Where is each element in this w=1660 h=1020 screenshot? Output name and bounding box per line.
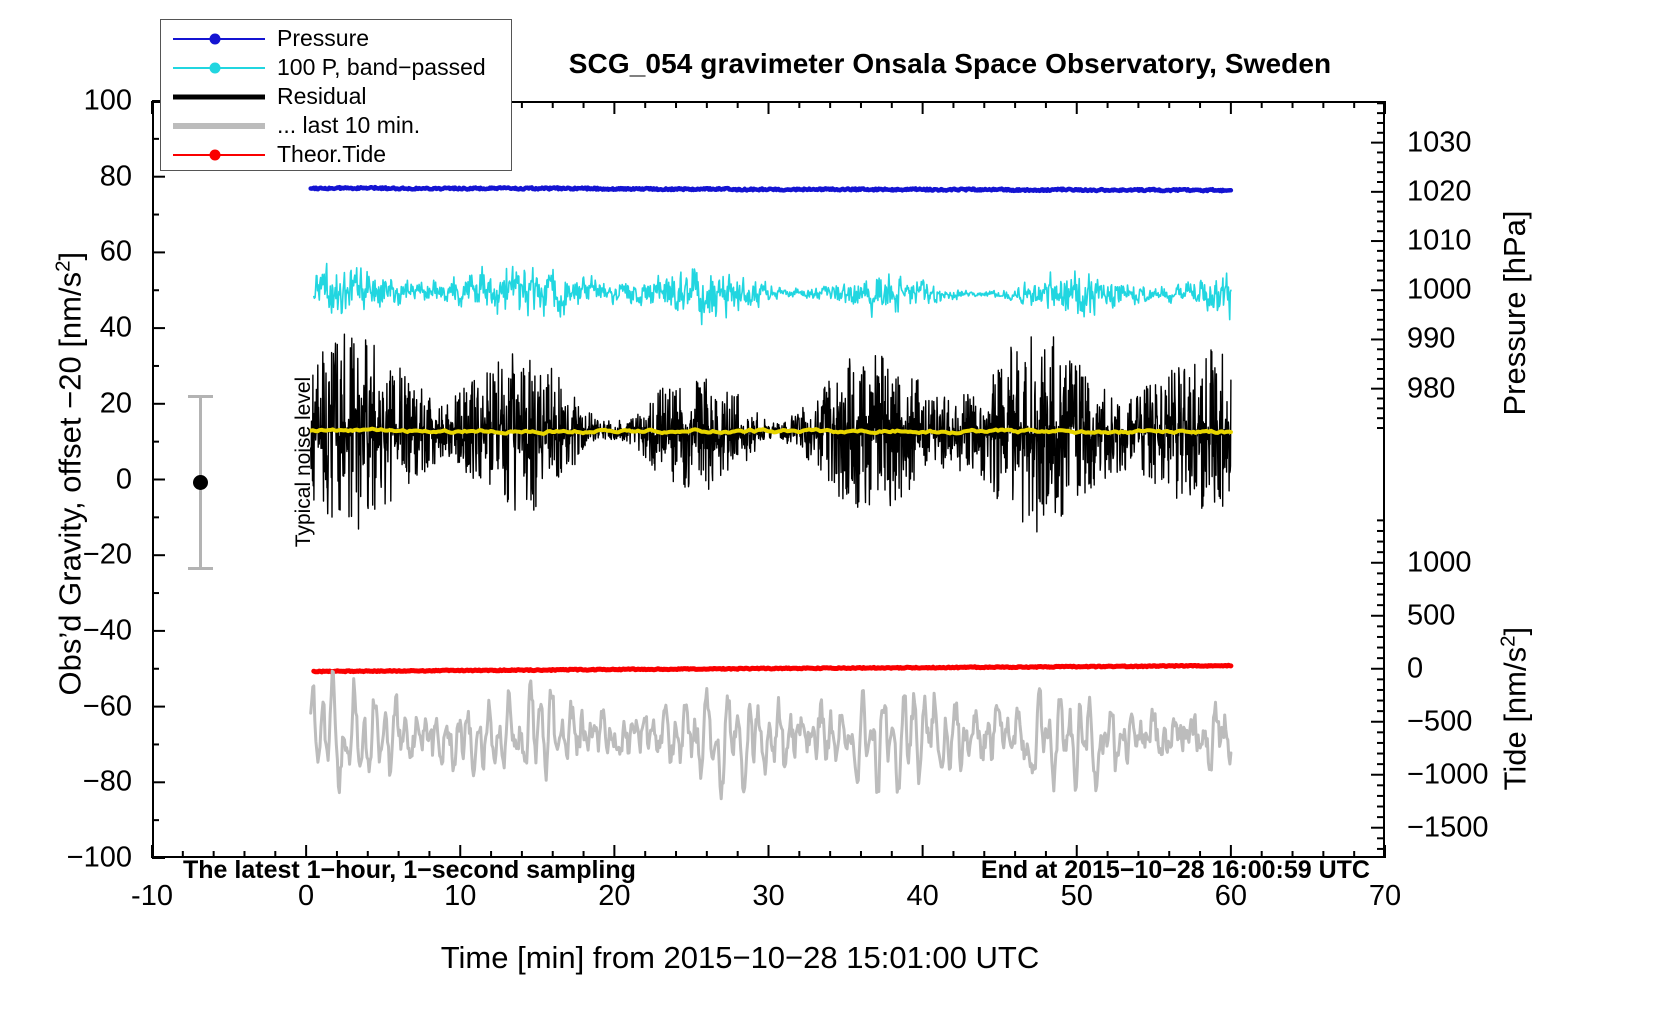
x-tick-label: 50	[1061, 880, 1093, 913]
note-end-time: End at 2015−10−28 16:00:59 UTC	[981, 856, 1370, 885]
typical-noise-errorbar	[180, 395, 220, 570]
noise-cap-top	[188, 395, 213, 398]
y-axis-title-left: Obs’d Gravity, offset −20 [nm/s2]	[51, 74, 88, 874]
tide-tick-label: −1500	[1407, 811, 1488, 844]
legend-line-residual	[173, 94, 265, 99]
legend-item[interactable]: Residual	[161, 82, 511, 111]
legend-marker-bandpassed	[210, 62, 221, 73]
note-sampling: The latest 1−hour, 1−second sampling	[183, 856, 636, 885]
tide-tick-label: −1000	[1407, 758, 1488, 791]
y-tick-label: −80	[83, 766, 132, 799]
y-tick-label: 80	[100, 160, 132, 193]
x-tick-label: 0	[298, 880, 314, 913]
plot-frame	[152, 101, 1385, 858]
noise-cap-bottom	[188, 567, 213, 570]
chart-title: SCG_054 gravimeter Onsala Space Observat…	[400, 48, 1500, 80]
x-tick-label: 60	[1215, 880, 1247, 913]
pressure-tick-label: 1010	[1407, 225, 1472, 258]
y-axis-title-pressure: Pressure [hPa]	[1497, 103, 1533, 523]
x-tick-label: 30	[752, 880, 784, 913]
y-tick-label: 40	[100, 312, 132, 345]
y-tick-label: −40	[83, 614, 132, 647]
legend-marker-pressure	[210, 33, 221, 44]
typical-noise-label: Typical noise level	[292, 332, 316, 592]
legend-item[interactable]: Theor.Tide	[161, 140, 511, 169]
noise-center-dot	[193, 475, 208, 490]
y-tick-label: 0	[116, 463, 132, 496]
x-tick-label: 20	[598, 880, 630, 913]
tide-tick-label: −500	[1407, 705, 1472, 738]
y-tick-label: 60	[100, 236, 132, 269]
pressure-tick-label: 1020	[1407, 175, 1472, 208]
y-tick-label: −20	[83, 539, 132, 572]
tide-tick-label: 1000	[1407, 546, 1472, 579]
x-tick-label: -10	[131, 880, 173, 913]
pressure-tick-label: 980	[1407, 372, 1455, 405]
pressure-tick-label: 990	[1407, 323, 1455, 356]
pressure-tick-label: 1030	[1407, 126, 1472, 159]
y-tick-label: 100	[84, 85, 132, 118]
x-axis-title: Time [min] from 2015−10−28 15:01:00 UTC	[0, 940, 1480, 976]
tide-tick-label: 500	[1407, 599, 1455, 632]
x-tick-label: 40	[906, 880, 938, 913]
legend-item[interactable]: ... last 10 min.	[161, 111, 511, 140]
legend-swatch-bandpassed	[173, 58, 265, 78]
legend-line-last10	[173, 123, 265, 129]
legend-label: 100 P, band−passed	[265, 54, 486, 81]
y-tick-label: −60	[83, 690, 132, 723]
legend-marker-tide	[210, 149, 221, 160]
chart-canvas: SCG_054 gravimeter Onsala Space Observat…	[0, 0, 1660, 1020]
legend: Pressure 100 P, band−passed Residual ...…	[160, 19, 512, 171]
x-tick-label: 70	[1369, 880, 1401, 913]
legend-swatch-last10	[173, 116, 265, 136]
legend-label: ... last 10 min.	[265, 112, 420, 139]
y-axis-title-tide: Tide [nm/s2]	[1496, 534, 1533, 884]
y-tick-label: −100	[67, 842, 132, 875]
legend-item[interactable]: 100 P, band−passed	[161, 53, 511, 82]
pressure-tick-label: 1000	[1407, 274, 1472, 307]
legend-label: Residual	[265, 83, 367, 110]
y-tick-label: 20	[100, 387, 132, 420]
legend-label: Theor.Tide	[265, 141, 386, 168]
tide-tick-label: 0	[1407, 652, 1423, 685]
legend-swatch-tide	[173, 145, 265, 165]
legend-swatch-residual	[173, 87, 265, 107]
legend-label: Pressure	[265, 25, 369, 52]
legend-swatch-pressure	[173, 29, 265, 49]
x-tick-label: 10	[444, 880, 476, 913]
legend-item[interactable]: Pressure	[161, 24, 511, 53]
